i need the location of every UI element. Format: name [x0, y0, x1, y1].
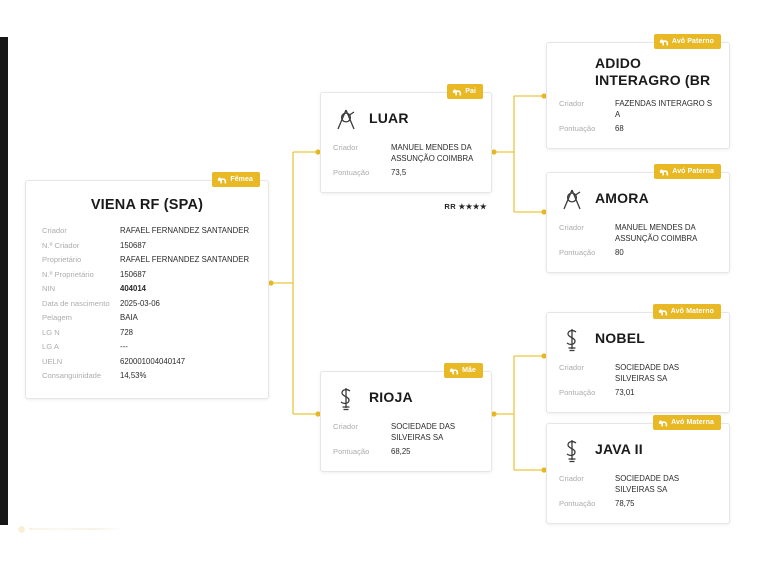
field-row-criador: Criador MANUEL MENDES DA ASSUNÇÃO COIMBR… — [559, 223, 717, 244]
field-label: Pontuação — [333, 168, 391, 178]
field-value: 150687 — [120, 241, 252, 252]
field-value: SOCIEDADE DAS SILVEIRAS SA — [615, 474, 717, 495]
field-value: 150687 — [120, 270, 252, 281]
field-value: MANUEL MENDES DA ASSUNÇÃO COIMBRA — [391, 143, 479, 164]
status-badge-paternal-grandsire: Avô Paterno — [654, 34, 721, 49]
horse-card-paternal-granddam[interactable]: Avó Paterna AMORA Criador MANUEL MENDES … — [546, 172, 730, 273]
field-label: Criador — [559, 363, 615, 373]
field-row-criador: Criador SOCIEDADE DAS SILVEIRAS SA — [333, 422, 479, 443]
horse-name-sire: LUAR — [369, 111, 479, 127]
field-row-pontuacao: Pontuação 78,75 — [559, 499, 717, 510]
field-value: 73,01 — [615, 388, 717, 399]
horse-card-maternal-grandsire[interactable]: Avô Materno NOBEL Criador SOCIEDADE DAS … — [546, 312, 730, 413]
brand-mark-s-icon — [559, 325, 585, 353]
brand-mark-placeholder-icon — [559, 58, 585, 86]
field-row-pontuacao: Pontuação 73,5 — [333, 168, 479, 179]
horse-card-maternal-granddam[interactable]: Avó Materna JAVA II Criador SOCIEDADE DA… — [546, 423, 730, 524]
horse-icon — [658, 308, 668, 316]
field-label: Pontuação — [333, 447, 391, 457]
status-badge-paternal-grandsire-label: Avô Paterno — [672, 38, 714, 45]
field-row-lg-a: LG A --- — [42, 342, 252, 353]
horse-card-main[interactable]: Fêmea VIENA RF (SPA) Criador RAFAEL FERN… — [25, 180, 269, 399]
horse-card-sire[interactable]: Pai LUAR Criador MANUEL MENDES DA ASSUNÇ… — [320, 92, 492, 193]
field-row-criador: Criador RAFAEL FERNANDEZ SANTANDER — [42, 226, 252, 237]
field-label: LG N — [42, 328, 120, 338]
horse-icon — [452, 88, 462, 96]
field-label: LG A — [42, 342, 120, 352]
field-value: 2025-03-06 — [120, 299, 252, 310]
status-badge-dam: Mãe — [444, 363, 483, 378]
field-label: UELN — [42, 357, 120, 367]
status-badge-maternal-granddam-label: Avó Materna — [671, 419, 714, 426]
field-row-criador: Criador MANUEL MENDES DA ASSUNÇÃO COIMBR… — [333, 143, 479, 164]
field-row-ueln: UELN 620001004040147 — [42, 357, 252, 368]
brand-mark-s-icon — [333, 384, 359, 412]
horse-name-maternal-granddam: JAVA II — [595, 442, 717, 458]
field-value: 68,25 — [391, 447, 479, 458]
field-value: RAFAEL FERNANDEZ SANTANDER — [120, 226, 252, 237]
field-label: Criador — [333, 422, 391, 432]
field-label: Pelagem — [42, 313, 120, 323]
field-label: Pontuação — [559, 124, 615, 134]
footer-line — [29, 528, 123, 530]
brand-mark-a-icon — [559, 185, 585, 213]
horse-name-paternal-granddam: AMORA — [595, 191, 717, 207]
field-value: 404014 — [120, 284, 252, 295]
field-label: Consanguinidade — [42, 371, 120, 381]
sire-rating-note: RR ★★★★ — [444, 202, 487, 211]
field-value: 620001004040147 — [120, 357, 252, 368]
horse-icon — [658, 419, 668, 427]
field-label: Data de nascimento — [42, 299, 120, 309]
field-value: 68 — [615, 124, 717, 135]
field-value: 80 — [615, 248, 717, 259]
field-value: FAZENDAS INTERAGRO S A — [615, 99, 717, 120]
status-badge-maternal-granddam: Avó Materna — [653, 415, 721, 430]
status-badge-dam-label: Mãe — [462, 367, 476, 374]
field-row-proprietario: Proprietário RAFAEL FERNANDEZ SANTANDER — [42, 255, 252, 266]
status-badge-maternal-grandsire-label: Avô Materno — [671, 308, 714, 315]
field-label: N.º Criador — [42, 241, 120, 251]
brand-mark-a-icon — [333, 105, 359, 133]
field-row-nin: NIN 404014 — [42, 284, 252, 295]
horse-icon — [659, 168, 669, 176]
horse-name-dam: RIOJA — [369, 390, 479, 406]
field-row-n-proprietario: N.º Proprietário 150687 — [42, 270, 252, 281]
maternal-grandsire-fields: Criador SOCIEDADE DAS SILVEIRAS SA Pontu… — [559, 363, 717, 399]
field-label: Pontuação — [559, 248, 615, 258]
field-value: RAFAEL FERNANDEZ SANTANDER — [120, 255, 252, 266]
field-value: 14,53% — [120, 371, 252, 382]
status-badge-sire: Pai — [447, 84, 483, 99]
field-label: Pontuação — [559, 388, 615, 398]
horse-icon — [217, 176, 227, 184]
field-value: --- — [120, 342, 252, 353]
field-row-n-criador: N.º Criador 150687 — [42, 241, 252, 252]
status-badge-main-label: Fêmea — [230, 176, 253, 183]
field-value: 78,75 — [615, 499, 717, 510]
field-row-pontuacao: Pontuação 68,25 — [333, 447, 479, 458]
field-row-lg-n: LG N 728 — [42, 328, 252, 339]
left-edge-strip — [0, 37, 8, 525]
dam-fields: Criador SOCIEDADE DAS SILVEIRAS SA Pontu… — [333, 422, 479, 458]
status-badge-paternal-granddam: Avó Paterna — [654, 164, 721, 179]
field-label: Criador — [559, 474, 615, 484]
field-row-consanguinidade: Consanguinidade 14,53% — [42, 371, 252, 382]
page-title: VIENA RF (SPA) — [42, 197, 252, 213]
horse-icon — [659, 38, 669, 46]
pedigree-chart: Fêmea VIENA RF (SPA) Criador RAFAEL FERN… — [0, 0, 766, 574]
paternal-grandsire-fields: Criador FAZENDAS INTERAGRO S A Pontuação… — [559, 99, 717, 135]
field-value: MANUEL MENDES DA ASSUNÇÃO COIMBRA — [615, 223, 717, 244]
status-badge-main: Fêmea — [212, 172, 260, 187]
field-label: Criador — [333, 143, 391, 153]
field-row-criador: Criador SOCIEDADE DAS SILVEIRAS SA — [559, 474, 717, 495]
field-label: Criador — [559, 223, 615, 233]
horse-card-paternal-grandsire[interactable]: Avô Paterno ADIDO INTERAGRO (BR Criador … — [546, 42, 730, 149]
field-value: BAIA — [120, 313, 252, 324]
sire-fields: Criador MANUEL MENDES DA ASSUNÇÃO COIMBR… — [333, 143, 479, 179]
main-horse-fields: Criador RAFAEL FERNANDEZ SANTANDER N.º C… — [42, 226, 252, 382]
field-row-data-nascimento: Data de nascimento 2025-03-06 — [42, 299, 252, 310]
field-label: NIN — [42, 284, 120, 294]
brand-mark-s-icon — [559, 436, 585, 464]
field-row-criador: Criador FAZENDAS INTERAGRO S A — [559, 99, 717, 120]
field-label: Criador — [559, 99, 615, 109]
field-row-pontuacao: Pontuação 68 — [559, 124, 717, 135]
field-label: Pontuação — [559, 499, 615, 509]
status-badge-sire-label: Pai — [465, 88, 476, 95]
horse-name-maternal-grandsire: NOBEL — [595, 331, 717, 347]
field-row-pontuacao: Pontuação 73,01 — [559, 388, 717, 399]
field-label: N.º Proprietário — [42, 270, 120, 280]
field-value: SOCIEDADE DAS SILVEIRAS SA — [391, 422, 479, 443]
horse-icon — [449, 367, 459, 375]
status-badge-paternal-granddam-label: Avó Paterna — [672, 168, 714, 175]
horse-name-paternal-grandsire: ADIDO INTERAGRO (BR — [595, 55, 717, 89]
field-label: Criador — [42, 226, 120, 236]
field-value: 728 — [120, 328, 252, 339]
paternal-granddam-fields: Criador MANUEL MENDES DA ASSUNÇÃO COIMBR… — [559, 223, 717, 259]
maternal-granddam-fields: Criador SOCIEDADE DAS SILVEIRAS SA Pontu… — [559, 474, 717, 510]
field-row-criador: Criador SOCIEDADE DAS SILVEIRAS SA — [559, 363, 717, 384]
cut-off-footer-element — [18, 524, 123, 534]
field-label: Proprietário — [42, 255, 120, 265]
field-row-pelagem: Pelagem BAIA — [42, 313, 252, 324]
field-value: 73,5 — [391, 168, 479, 179]
horse-card-dam[interactable]: Mãe RIOJA Criador SOCIEDADE DAS SILVEIRA… — [320, 371, 492, 472]
field-value: SOCIEDADE DAS SILVEIRAS SA — [615, 363, 717, 384]
status-badge-maternal-grandsire: Avô Materno — [653, 304, 721, 319]
field-row-pontuacao: Pontuação 80 — [559, 248, 717, 259]
footer-dot-icon — [18, 526, 25, 533]
